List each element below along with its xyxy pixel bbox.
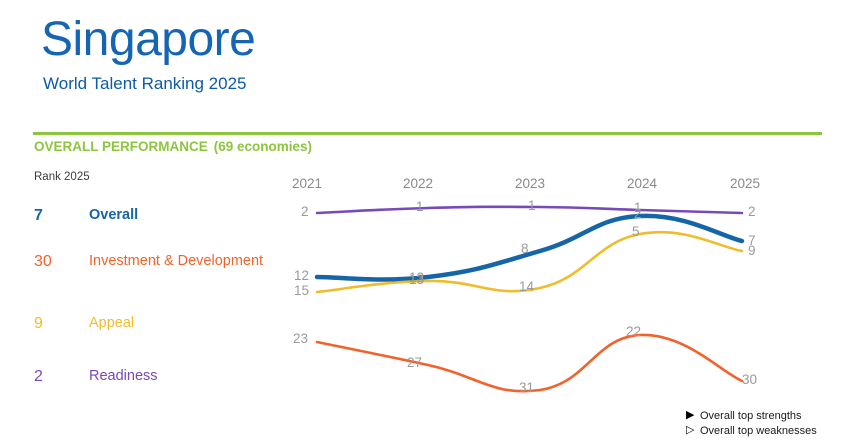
data-point-label: 22 xyxy=(626,324,641,339)
section-heading-text: OVERALL PERFORMANCE xyxy=(34,139,208,154)
data-point-label: 12 xyxy=(294,268,309,283)
page-title: Singapore xyxy=(41,12,255,68)
data-point-label: 15 xyxy=(294,283,309,298)
x-axis-label-2022: 2022 xyxy=(403,176,433,191)
rank-column-header: Rank 2025 xyxy=(34,171,90,183)
data-point-label: 14 xyxy=(519,279,534,294)
data-point-label: 2 xyxy=(634,206,642,221)
legend-label-readiness: Readiness xyxy=(89,367,158,386)
data-point-label: 13 xyxy=(409,272,424,287)
economies-count: (69 economies) xyxy=(214,139,312,154)
x-axis-label-2023: 2023 xyxy=(515,176,545,191)
footer-legend-weaknesses-label: Overall top weaknesses xyxy=(700,424,817,438)
data-point-label: 1 xyxy=(528,198,536,213)
data-point-label: 2 xyxy=(748,204,756,219)
x-axis-label-2025: 2025 xyxy=(730,176,760,191)
triangle-hollow-icon: ▷ xyxy=(686,425,700,436)
data-point-label: 2 xyxy=(301,204,309,219)
legend-item-investment-development[interactable]: 30 Investment & Development xyxy=(34,252,264,272)
x-axis-label-2021: 2021 xyxy=(292,176,322,191)
legend-rank-readiness: 2 xyxy=(34,367,89,387)
data-point-label: 9 xyxy=(748,243,756,258)
legend-item-readiness[interactable]: 2 Readiness xyxy=(34,367,264,387)
legend-label-investment-development: Investment & Development xyxy=(89,252,263,271)
footer-legend-strengths-label: Overall top strengths xyxy=(700,409,802,423)
legend-rank-appeal: 9 xyxy=(34,314,89,334)
report-subtitle: World Talent Ranking 2025 xyxy=(43,73,247,95)
legend-rank-overall: 7 xyxy=(34,206,89,226)
data-point-label: 8 xyxy=(521,241,529,256)
section-heading: OVERALL PERFORMANCE(69 economies) xyxy=(34,139,312,154)
data-point-label: 30 xyxy=(742,372,757,387)
footer-legend-weaknesses: ▷ Overall top weaknesses xyxy=(686,423,817,438)
section-divider xyxy=(33,132,822,135)
x-axis-label-2024: 2024 xyxy=(627,176,657,191)
triangle-filled-icon: ▶ xyxy=(686,410,700,421)
data-point-label: 1 xyxy=(416,199,424,214)
data-point-label: 31 xyxy=(519,380,534,395)
data-point-label: 27 xyxy=(407,355,422,370)
data-point-label: 5 xyxy=(632,224,640,239)
chart-footer-legend: ▶ Overall top strengths ▷ Overall top we… xyxy=(686,408,817,438)
series-line-overall xyxy=(317,216,742,280)
chart-series-group xyxy=(317,207,742,391)
footer-legend-strengths: ▶ Overall top strengths xyxy=(686,408,817,423)
legend-label-overall: Overall xyxy=(89,206,138,225)
legend-item-appeal[interactable]: 9 Appeal xyxy=(34,314,264,334)
legend-item-overall[interactable]: 7 Overall xyxy=(34,206,264,226)
legend-rank-investment-development: 30 xyxy=(34,252,89,272)
legend-label-appeal: Appeal xyxy=(89,314,134,333)
data-point-label: 23 xyxy=(293,331,308,346)
